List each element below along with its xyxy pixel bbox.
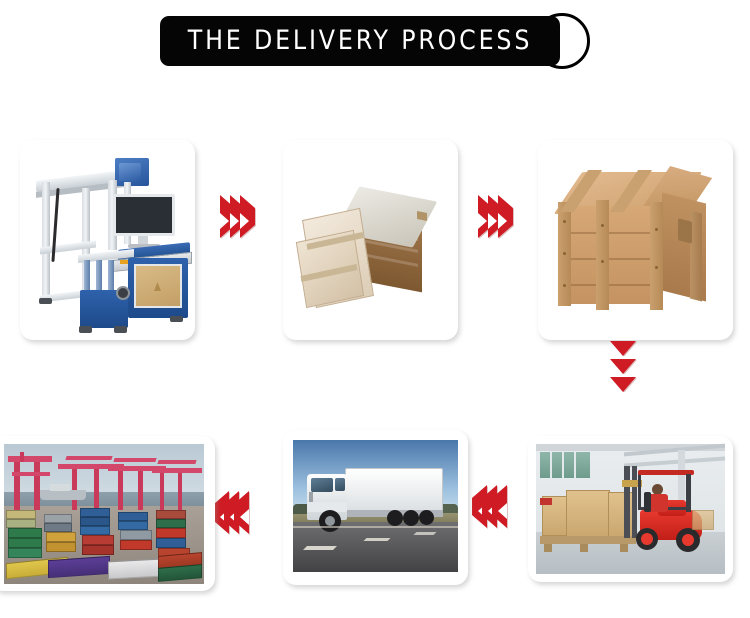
delivery-process-infographic: THE DELIVERY PROCESS (0, 0, 750, 618)
chevron-right-icon (498, 208, 508, 226)
connector-right-1 (220, 208, 250, 226)
chevron-right-icon (220, 208, 230, 226)
step-card-sealed-plywood-crate[interactable] (538, 140, 733, 340)
chevron-right-icon (478, 208, 488, 226)
chevron-right-icon (230, 208, 240, 226)
step-card-forklift-warehouse[interactable] (528, 436, 733, 582)
step-card-delivery-truck[interactable] (283, 430, 468, 585)
step-card-open-wooden-crate[interactable] (283, 140, 458, 340)
chevron-right-icon (240, 208, 250, 226)
connector-down-1 (610, 356, 636, 410)
page-title: THE DELIVERY PROCESS (184, 16, 536, 66)
shipping-port-image (0, 436, 215, 591)
title-banner: THE DELIVERY PROCESS (160, 16, 590, 66)
chevron-down-icon (610, 392, 636, 410)
chevron-left-icon (239, 504, 249, 522)
connector-left-1 (477, 498, 507, 516)
step-card-shipping-port[interactable] (0, 436, 215, 591)
forklift-warehouse-image (528, 436, 733, 582)
open-wooden-crate-image (283, 140, 458, 340)
connector-right-2 (478, 208, 508, 226)
laser-marking-machine-image (20, 140, 195, 340)
sealed-plywood-crate-image (538, 140, 733, 340)
connector-left-2 (219, 504, 249, 522)
delivery-truck-image (283, 430, 468, 585)
chevron-right-icon (488, 208, 498, 226)
step-card-laser-marking-machine[interactable] (20, 140, 195, 340)
chevron-left-icon (497, 498, 507, 516)
